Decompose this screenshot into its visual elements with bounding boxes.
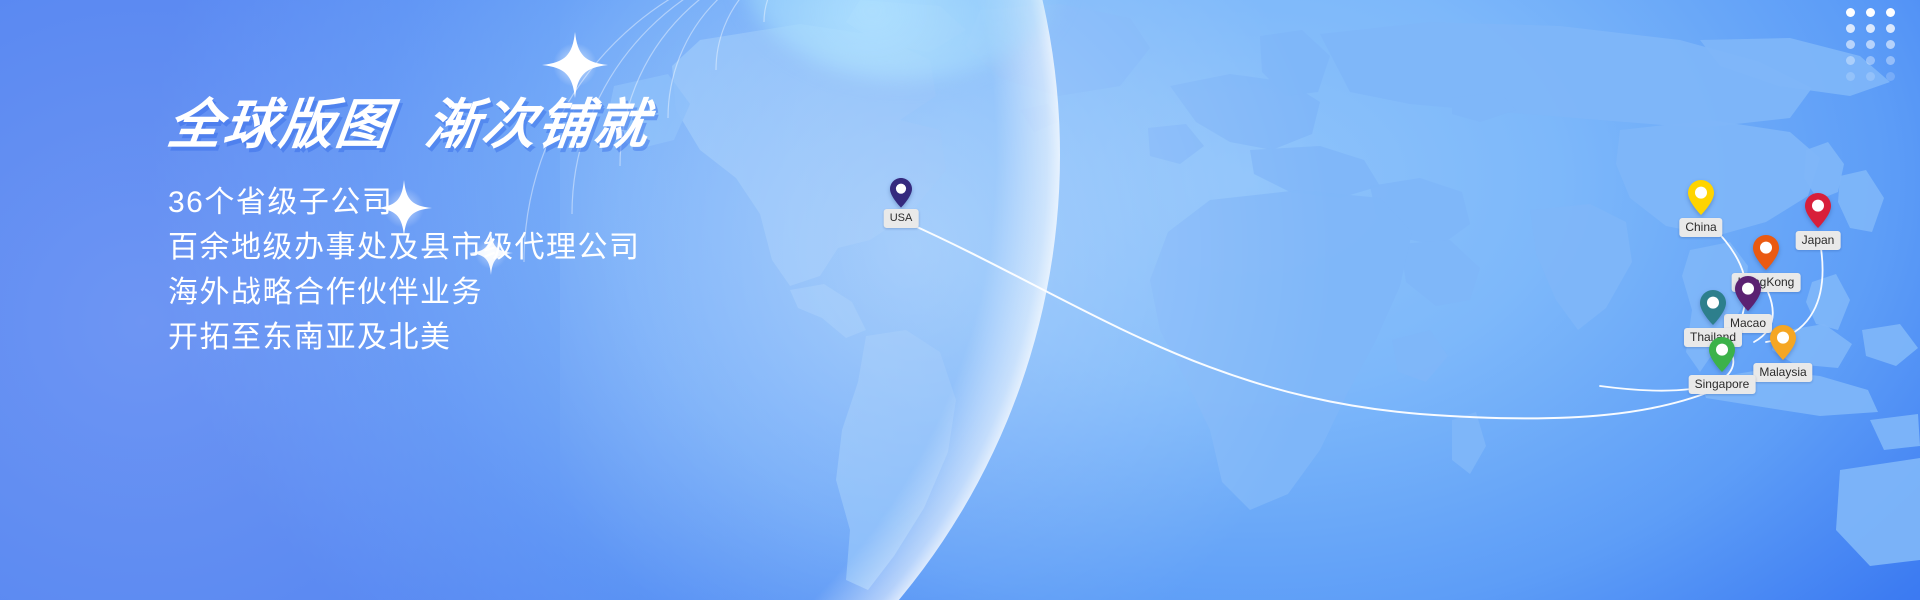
global-map-banner: 全球版图渐次铺就 36个省级子公司 百余地级办事处及县市级代理公司 海外战略合作…: [0, 0, 1920, 600]
map-marker-japan[interactable]: Japan: [1805, 193, 1831, 228]
headline-part-1: 全球版图: [164, 95, 395, 155]
map-marker-macao[interactable]: Macao: [1735, 276, 1761, 311]
map-marker-label: USA: [884, 209, 919, 228]
map-marker-label: Malaysia: [1753, 363, 1812, 382]
map-marker-label: Japan: [1796, 231, 1841, 250]
map-pin-icon: [1753, 235, 1779, 270]
list-item: 百余地级办事处及县市级代理公司: [168, 225, 888, 270]
map-pin-icon: [1805, 193, 1831, 228]
map-pin-icon: [1700, 290, 1726, 325]
map-marker-malaysia[interactable]: Malaysia: [1770, 325, 1796, 360]
map-pin-icon: [1735, 276, 1761, 311]
map-marker-hongkong[interactable]: HongKong: [1753, 235, 1779, 270]
map-marker-label: China: [1679, 218, 1722, 237]
list-item: 开拓至东南亚及北美: [168, 315, 888, 360]
headline-part-2: 渐次铺就: [422, 95, 653, 155]
highlights-list: 36个省级子公司 百余地级办事处及县市级代理公司 海外战略合作伙伴业务 开拓至东…: [168, 180, 888, 360]
map-marker-singapore[interactable]: Singapore: [1709, 337, 1735, 372]
list-item: 海外战略合作伙伴业务: [168, 270, 888, 315]
map-pin-icon: [1770, 325, 1796, 360]
page-title: 全球版图渐次铺就: [164, 96, 891, 154]
copy-block: 全球版图渐次铺就 36个省级子公司 百余地级办事处及县市级代理公司 海外战略合作…: [168, 96, 888, 360]
map-pin-icon: [890, 178, 912, 208]
map-marker-china[interactable]: China: [1688, 180, 1714, 215]
map-pin-icon: [1709, 337, 1735, 372]
map-marker-thailand[interactable]: Thailand: [1700, 290, 1726, 325]
map-marker-usa[interactable]: USA: [890, 178, 912, 208]
map-marker-label: Singapore: [1689, 375, 1756, 394]
map-pin-icon: [1688, 180, 1714, 215]
list-item: 36个省级子公司: [168, 180, 888, 225]
